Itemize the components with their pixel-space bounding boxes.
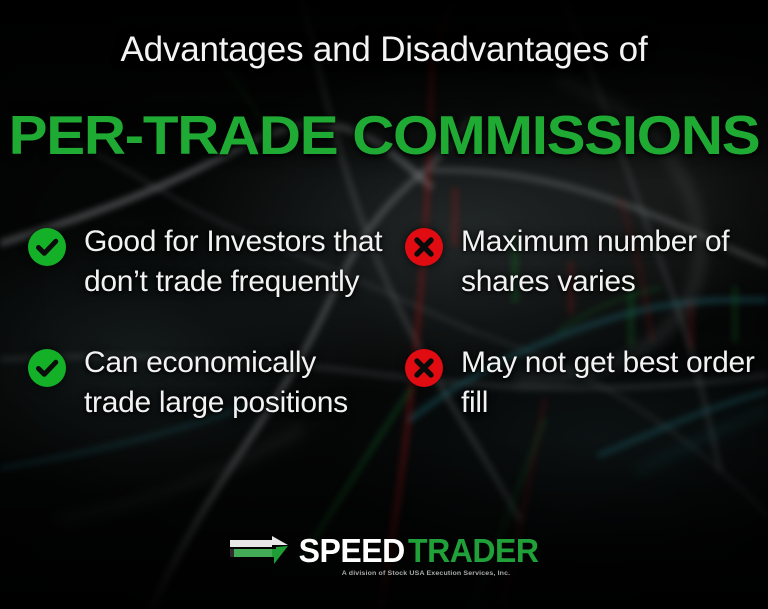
list-item: Can economically trade large positions — [28, 343, 384, 423]
logo-word-speed: SPEED — [298, 534, 404, 567]
page-title: PER-TRADE COMMISSIONS — [0, 103, 768, 167]
list-item-label: Good for Investors that don’t trade freq… — [84, 222, 384, 302]
logo-word-trader: TRADER — [408, 534, 538, 567]
list-item-label: Can economically trade large positions — [84, 343, 384, 423]
brand-logo: SPEED TRADER A division of Stock USA Exe… — [0, 534, 768, 577]
disadvantages-column: Maximum number of shares varies May not … — [384, 222, 768, 464]
advantages-column: Good for Investors that don’t trade freq… — [0, 222, 384, 464]
speed-arrow-icon — [228, 536, 290, 566]
check-glyph — [28, 349, 66, 387]
cross-circle-icon — [405, 228, 443, 266]
check-circle-icon — [28, 228, 66, 266]
comparison-columns: Good for Investors that don’t trade freq… — [0, 222, 768, 464]
list-item: May not get best order fill — [405, 343, 768, 423]
check-glyph — [28, 228, 66, 266]
infographic-canvas: Advantages and Disadvantages of PER-TRAD… — [0, 0, 768, 609]
cross-glyph — [405, 228, 443, 266]
content-root: Advantages and Disadvantages of PER-TRAD… — [0, 0, 768, 609]
logo-tagline: A division of Stock USA Execution Servic… — [342, 570, 511, 577]
cross-glyph — [405, 349, 443, 387]
list-item-label: May not get best order fill — [461, 343, 761, 423]
page-subtitle: Advantages and Disadvantages of — [0, 30, 768, 70]
check-circle-icon — [28, 349, 66, 387]
list-item-label: Maximum number of shares varies — [461, 222, 761, 302]
list-item: Maximum number of shares varies — [405, 222, 768, 302]
logo-row: SPEED TRADER — [228, 534, 541, 567]
cross-circle-icon — [405, 349, 443, 387]
list-item: Good for Investors that don’t trade freq… — [28, 222, 384, 302]
